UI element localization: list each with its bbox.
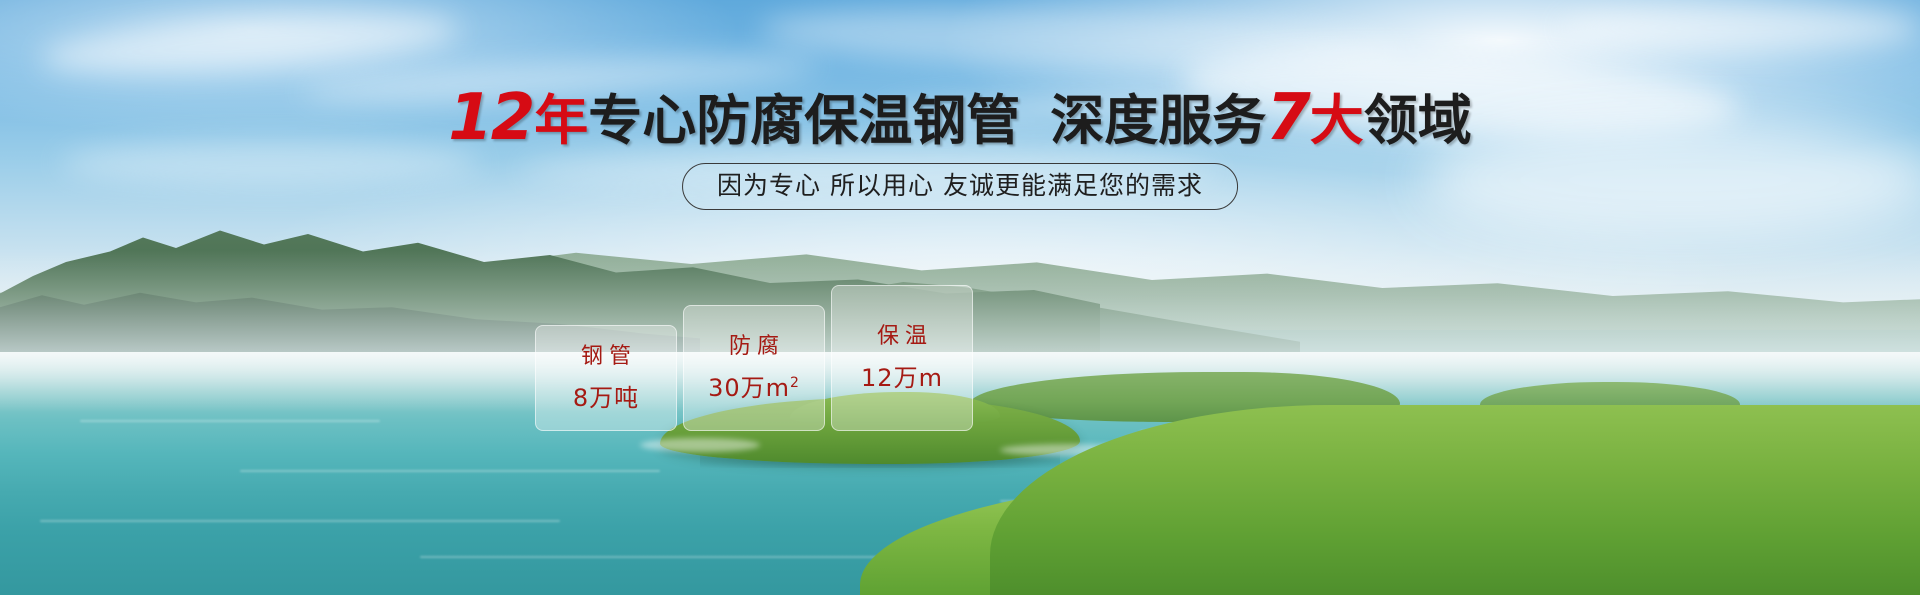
- stat-card-steel-pipe[interactable]: 钢管 8万吨: [535, 325, 677, 431]
- stat-card-anticorrosion[interactable]: 防腐 30万m2: [683, 305, 825, 431]
- subtitle-pill: 因为专心 所以用心 友诚更能满足您的需求: [682, 163, 1238, 210]
- stat-card-list: 钢管 8万吨 防腐 30万m2 保温 12万m: [535, 265, 973, 431]
- headline-years-unit: 年: [534, 89, 588, 152]
- headline-fields-number: 7: [1266, 81, 1309, 155]
- stat-card-title: 钢管: [575, 346, 637, 368]
- stat-card-title: 防腐: [723, 336, 785, 358]
- subtitle-text: 因为专心 所以用心 友诚更能满足您的需求: [717, 171, 1203, 200]
- headline-fields-tail: 领域: [1364, 89, 1472, 152]
- hero-banner: 12年专心防腐保温钢管深度服务7大领域 因为专心 所以用心 友诚更能满足您的需求…: [0, 0, 1920, 595]
- headline-years-number: 12: [448, 81, 533, 155]
- headline-fields-unit: 大: [1310, 89, 1364, 152]
- water-ripple: [240, 470, 660, 472]
- headline-main-text: 专心防腐保温钢管: [588, 89, 1020, 152]
- stat-card-value: 8万吨: [573, 386, 639, 410]
- stat-card-value-text: 8万吨: [573, 384, 639, 412]
- water-ripple: [80, 420, 380, 422]
- stat-card-value-sup: 2: [790, 375, 800, 391]
- water-foam: [640, 438, 760, 452]
- page-title: 12年专心防腐保温钢管深度服务7大领域: [0, 86, 1920, 150]
- stat-card-insulation[interactable]: 保温 12万m: [831, 285, 973, 431]
- stat-card-title: 保温: [871, 326, 933, 348]
- stat-card-value-text: 30万m: [708, 374, 790, 402]
- stat-card-value: 30万m2: [708, 376, 800, 400]
- water-ripple: [40, 520, 560, 522]
- cloud-shape: [1560, 6, 1920, 50]
- stat-card-value: 12万m: [861, 366, 943, 390]
- grass-bank: [990, 405, 1920, 595]
- stat-card-value-text: 12万m: [861, 364, 943, 392]
- cloud-shape: [39, 3, 462, 84]
- headline-service-text: 深度服务: [1050, 89, 1266, 152]
